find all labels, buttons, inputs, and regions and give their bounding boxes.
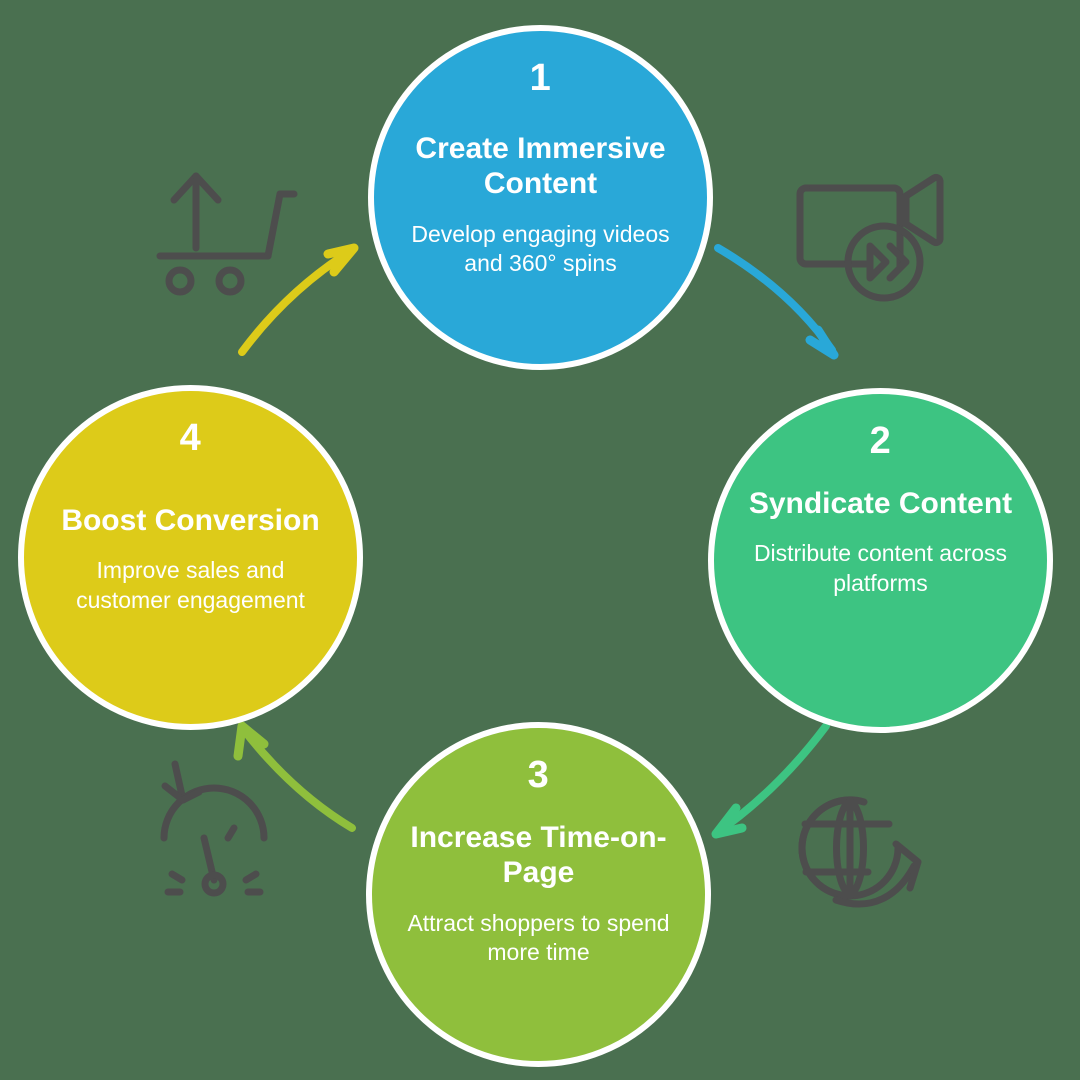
step-title: Create Immersive Content [408, 131, 673, 202]
cycle-diagram: 1 Create Immersive Content Develop engag… [0, 0, 1080, 1080]
step-number: 3 [528, 756, 550, 794]
step-description: Distribute content across platforms [746, 539, 1016, 598]
connector-4-to-1 [242, 248, 354, 352]
step-title: Syndicate Content [749, 486, 1012, 521]
connector-3-to-4 [238, 726, 352, 828]
step-description: Improve sales and customer engagement [50, 556, 331, 615]
step-number: 4 [180, 419, 202, 457]
step-description: Attract shoppers to spend more time [404, 909, 674, 968]
step-description: Develop engaging videos and 360° spins [406, 220, 676, 279]
connector-1-to-2 [718, 248, 834, 355]
connector-2-to-3 [716, 726, 826, 834]
step-node-3[interactable]: 3 Increase Time-on-Page Attract shoppers… [366, 722, 711, 1067]
step-node-1[interactable]: 1 Create Immersive Content Develop engag… [368, 25, 713, 370]
step-number: 1 [530, 59, 552, 97]
step-number: 2 [870, 422, 892, 460]
step-node-4[interactable]: 4 Boost Conversion Improve sales and cus… [18, 385, 363, 730]
step-title: Increase Time-on-Page [406, 820, 671, 891]
step-node-2[interactable]: 2 Syndicate Content Distribute content a… [708, 388, 1053, 733]
step-title: Boost Conversion [61, 503, 319, 538]
